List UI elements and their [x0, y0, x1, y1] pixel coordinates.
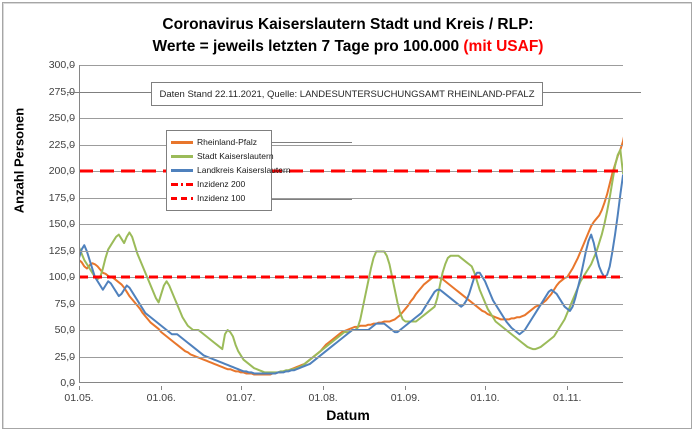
- chart-title: Coronavirus Kaiserslautern Stadt und Kre…: [3, 14, 693, 58]
- y-tick-label: 25,0: [9, 351, 75, 363]
- x-tick-label: 01.06.: [147, 392, 176, 404]
- plot-area: [79, 65, 623, 383]
- y-tick-mark: [71, 383, 75, 384]
- data-source-note-text: Daten Stand 22.11.2021, Quelle: LANDESUN…: [159, 89, 534, 100]
- legend-item-label: Inzidenz 200: [197, 179, 245, 189]
- x-tick-label: 01.10.: [470, 392, 499, 404]
- y-tick-mark: [71, 65, 75, 66]
- legend-color-swatch: [171, 150, 193, 162]
- legend-item-label: Landkreis Kaiserslautern: [197, 165, 291, 175]
- y-tick-mark: [71, 304, 75, 305]
- x-tick-label: 01.11.: [553, 392, 581, 404]
- chart-frame: Coronavirus Kaiserslautern Stadt und Kre…: [2, 2, 692, 429]
- legend-item[interactable]: Inzidenz 100: [171, 191, 266, 205]
- x-tick-label: 01.09.: [391, 392, 420, 404]
- y-tick-mark: [71, 118, 75, 119]
- legend-leader-bottom: [272, 199, 352, 200]
- y-tick-label: 100,0: [9, 271, 75, 283]
- note-leader-left: [67, 92, 151, 93]
- legend-item[interactable]: Inzidenz 200: [171, 177, 266, 191]
- legend-item[interactable]: Rheinland-Pfalz: [171, 135, 266, 149]
- y-tick-label: 0,0: [9, 377, 75, 389]
- y-tick-label: 225,0: [9, 139, 75, 151]
- x-tick-label: 01.05.: [64, 392, 93, 404]
- chart-title-line2: Werte = jeweils letzten 7 Tage pro 100.0…: [3, 36, 693, 58]
- y-tick-mark: [71, 198, 75, 199]
- y-tick-mark: [71, 330, 75, 331]
- legend-color-swatch: [171, 164, 193, 176]
- chart-title-line2-main: Werte = jeweils letzten 7 Tage pro 100.0…: [153, 38, 464, 55]
- y-tick-mark: [71, 145, 75, 146]
- y-tick-mark: [71, 251, 75, 252]
- x-tick-mark: [323, 386, 324, 390]
- y-axis-tick-labels: 0,025,050,075,0100,0125,0150,0175,0200,0…: [3, 65, 75, 383]
- data-source-note: Daten Stand 22.11.2021, Quelle: LANDESUN…: [151, 82, 543, 106]
- y-tick-label: 250,0: [9, 112, 75, 124]
- legend-item[interactable]: Stadt Kaiserslautern: [171, 149, 266, 163]
- x-tick-mark: [161, 386, 162, 390]
- y-tick-label: 75,0: [9, 298, 75, 310]
- legend-item-label: Stadt Kaiserslautern: [197, 151, 274, 161]
- legend-color-swatch: [171, 192, 193, 204]
- y-tick-mark: [71, 171, 75, 172]
- y-tick-label: 275,0: [9, 86, 75, 98]
- legend-color-swatch: [171, 178, 193, 190]
- y-tick-label: 200,0: [9, 165, 75, 177]
- legend-item-label: Rheinland-Pfalz: [197, 137, 257, 147]
- legend-item[interactable]: Landkreis Kaiserslautern: [171, 163, 266, 177]
- y-tick-mark: [71, 357, 75, 358]
- y-tick-label: 150,0: [9, 218, 75, 230]
- legend-color-swatch: [171, 136, 193, 148]
- y-tick-mark: [71, 224, 75, 225]
- x-axis-title: Datum: [3, 407, 693, 423]
- y-tick-mark: [71, 277, 75, 278]
- y-tick-label: 50,0: [9, 324, 75, 336]
- x-tick-label: 01.07.: [226, 392, 255, 404]
- x-tick-label: 01.08.: [309, 392, 338, 404]
- y-tick-label: 300,0: [9, 59, 75, 71]
- legend-item-label: Inzidenz 100: [197, 193, 245, 203]
- chart-title-line1: Coronavirus Kaiserslautern Stadt und Kre…: [3, 14, 693, 36]
- x-tick-mark: [567, 386, 568, 390]
- chart-title-usaf-accent: (mit USAF): [463, 38, 543, 55]
- y-tick-label: 175,0: [9, 192, 75, 204]
- chart-legend[interactable]: Rheinland-PfalzStadt KaiserslauternLandk…: [166, 130, 272, 211]
- x-tick-mark: [79, 386, 80, 390]
- x-axis-tick-labels: 01.05.01.06.01.07.01.08.01.09.01.10.01.1…: [79, 386, 623, 404]
- x-tick-mark: [405, 386, 406, 390]
- x-tick-mark: [241, 386, 242, 390]
- x-tick-mark: [485, 386, 486, 390]
- y-tick-label: 125,0: [9, 245, 75, 257]
- note-leader-right: [541, 92, 641, 93]
- legend-leader-top: [272, 142, 352, 143]
- plot-axis-lines: [79, 65, 623, 383]
